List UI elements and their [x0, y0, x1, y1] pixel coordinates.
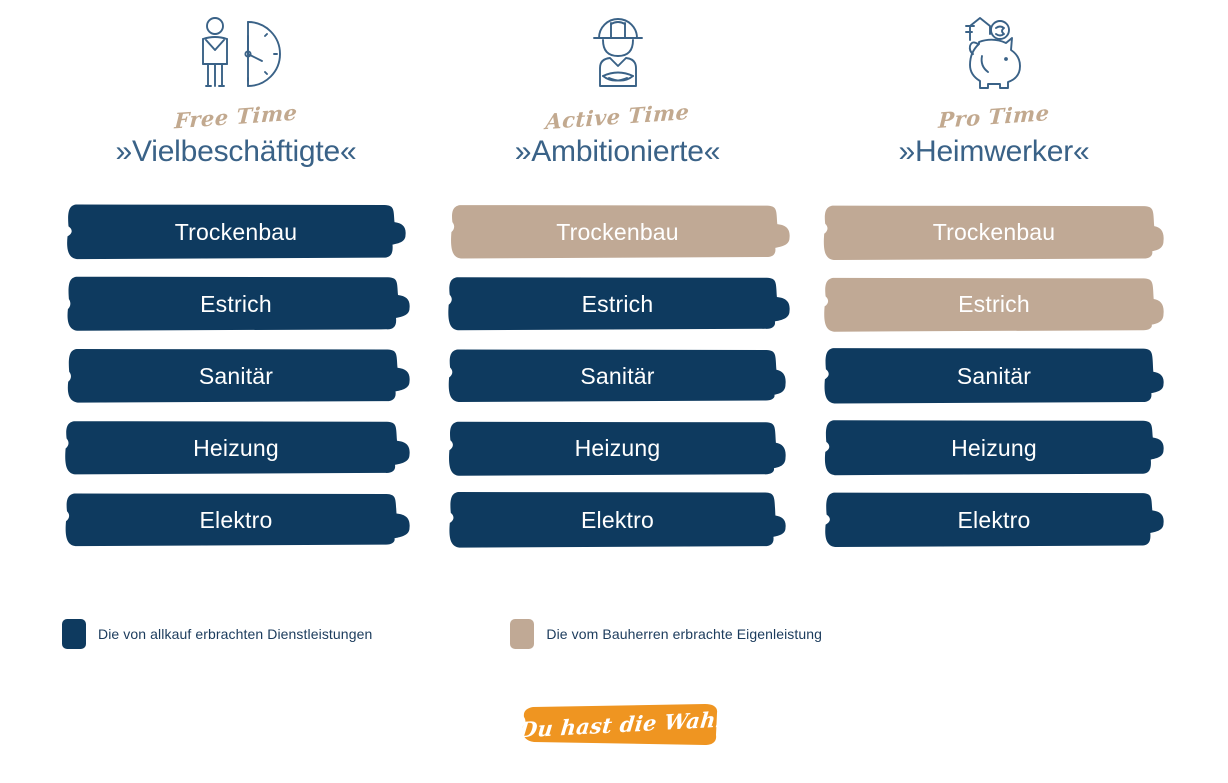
legend-label-service: Die von allkauf erbrachten Dienstleistun… [98, 626, 372, 642]
bar-label: Trockenbau [556, 219, 679, 246]
worker-with-hardhat-icon [445, 8, 790, 100]
column-title: »Vielbeschäftigte« [62, 136, 410, 168]
bar-label: Heizung [193, 435, 279, 462]
column-bars: TrockenbauEstrichSanitärHeizungElektro [62, 202, 410, 562]
trade-bar[interactable]: Elektro [445, 490, 790, 550]
trade-bar[interactable]: Heizung [820, 418, 1168, 478]
column-title: »Heimwerker« [820, 136, 1168, 168]
trade-bar[interactable]: Elektro [820, 490, 1168, 550]
legend-label-owner: Die vom Bauherren erbrachte Eigenleistun… [546, 626, 822, 642]
comparison-table: Free Time »Vielbeschäftigte« TrockenbauE… [0, 0, 1228, 783]
du-hast-die-wahl-badge: Du hast die Wahl [519, 701, 724, 748]
column-script-label: Free Time [62, 94, 410, 139]
bar-label: Elektro [200, 507, 273, 534]
column-script-label: Pro Time [820, 94, 1168, 139]
column-title: »Ambitionierte« [445, 136, 790, 168]
column-bars: TrockenbauEstrichSanitärHeizungElektro [445, 202, 790, 562]
legend-swatch-owner [510, 619, 534, 649]
trade-bar[interactable]: Elektro [62, 490, 410, 550]
bar-label: Sanitär [580, 363, 654, 390]
legend-item-owner: Die vom Bauherren erbrachte Eigenleistun… [510, 619, 822, 649]
bar-label: Sanitär [199, 363, 273, 390]
bar-label: Trockenbau [933, 219, 1056, 246]
trade-bar[interactable]: Sanitär [62, 346, 410, 406]
column-header: Active Time »Ambitionierte« [445, 8, 790, 168]
trade-bar[interactable]: Sanitär [820, 346, 1168, 406]
person-with-clock-icon [62, 8, 410, 100]
trade-bar[interactable]: Estrich [445, 274, 790, 334]
column-script-label: Active Time [445, 94, 790, 139]
trade-bar[interactable]: Heizung [445, 418, 790, 478]
bar-label: Estrich [958, 291, 1030, 318]
trade-bar[interactable]: Trockenbau [62, 202, 410, 262]
bar-label: Heizung [575, 435, 661, 462]
bar-label: Estrich [582, 291, 654, 318]
bar-label: Estrich [200, 291, 272, 318]
trade-bar[interactable]: Estrich [820, 274, 1168, 334]
column-header: Pro Time »Heimwerker« [820, 8, 1168, 168]
column-header: Free Time »Vielbeschäftigte« [62, 8, 410, 168]
bar-label: Heizung [951, 435, 1037, 462]
bar-label: Sanitär [957, 363, 1031, 390]
trade-bar[interactable]: Heizung [62, 418, 410, 478]
trade-bar[interactable]: Estrich [62, 274, 410, 334]
column-bars: TrockenbauEstrichSanitärHeizungElektro [820, 202, 1168, 562]
legend-item-service: Die von allkauf erbrachten Dienstleistun… [62, 619, 372, 649]
legend: Die von allkauf erbrachten Dienstleistun… [62, 619, 962, 649]
trade-bar[interactable]: Trockenbau [445, 202, 790, 262]
trade-bar[interactable]: Sanitär [445, 346, 790, 406]
bar-label: Trockenbau [175, 219, 298, 246]
bar-label: Elektro [958, 507, 1031, 534]
legend-swatch-service [62, 619, 86, 649]
piggy-bank-with-coin-icon [820, 8, 1168, 100]
bar-label: Elektro [581, 507, 654, 534]
trade-bar[interactable]: Trockenbau [820, 202, 1168, 262]
